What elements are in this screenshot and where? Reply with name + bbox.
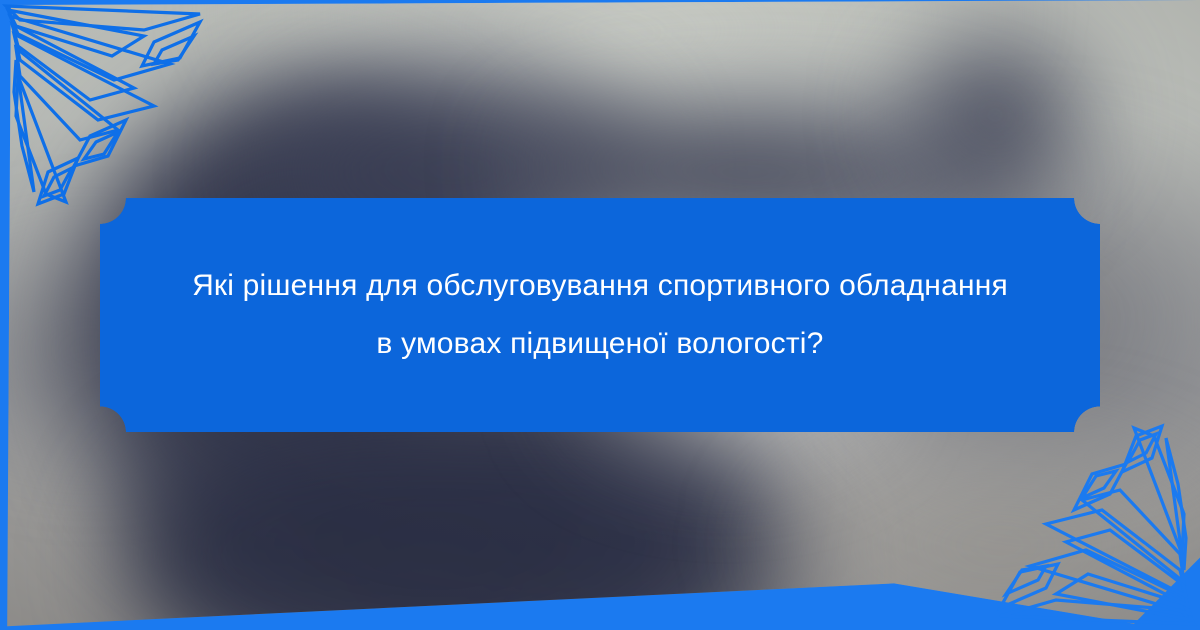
quote-card: Які рішення для обслуговування спортивно…: [0, 0, 1200, 630]
quote-text: Які рішення для обслуговування спортивно…: [134, 257, 1066, 374]
quote-banner: Які рішення для обслуговування спортивно…: [100, 198, 1100, 432]
